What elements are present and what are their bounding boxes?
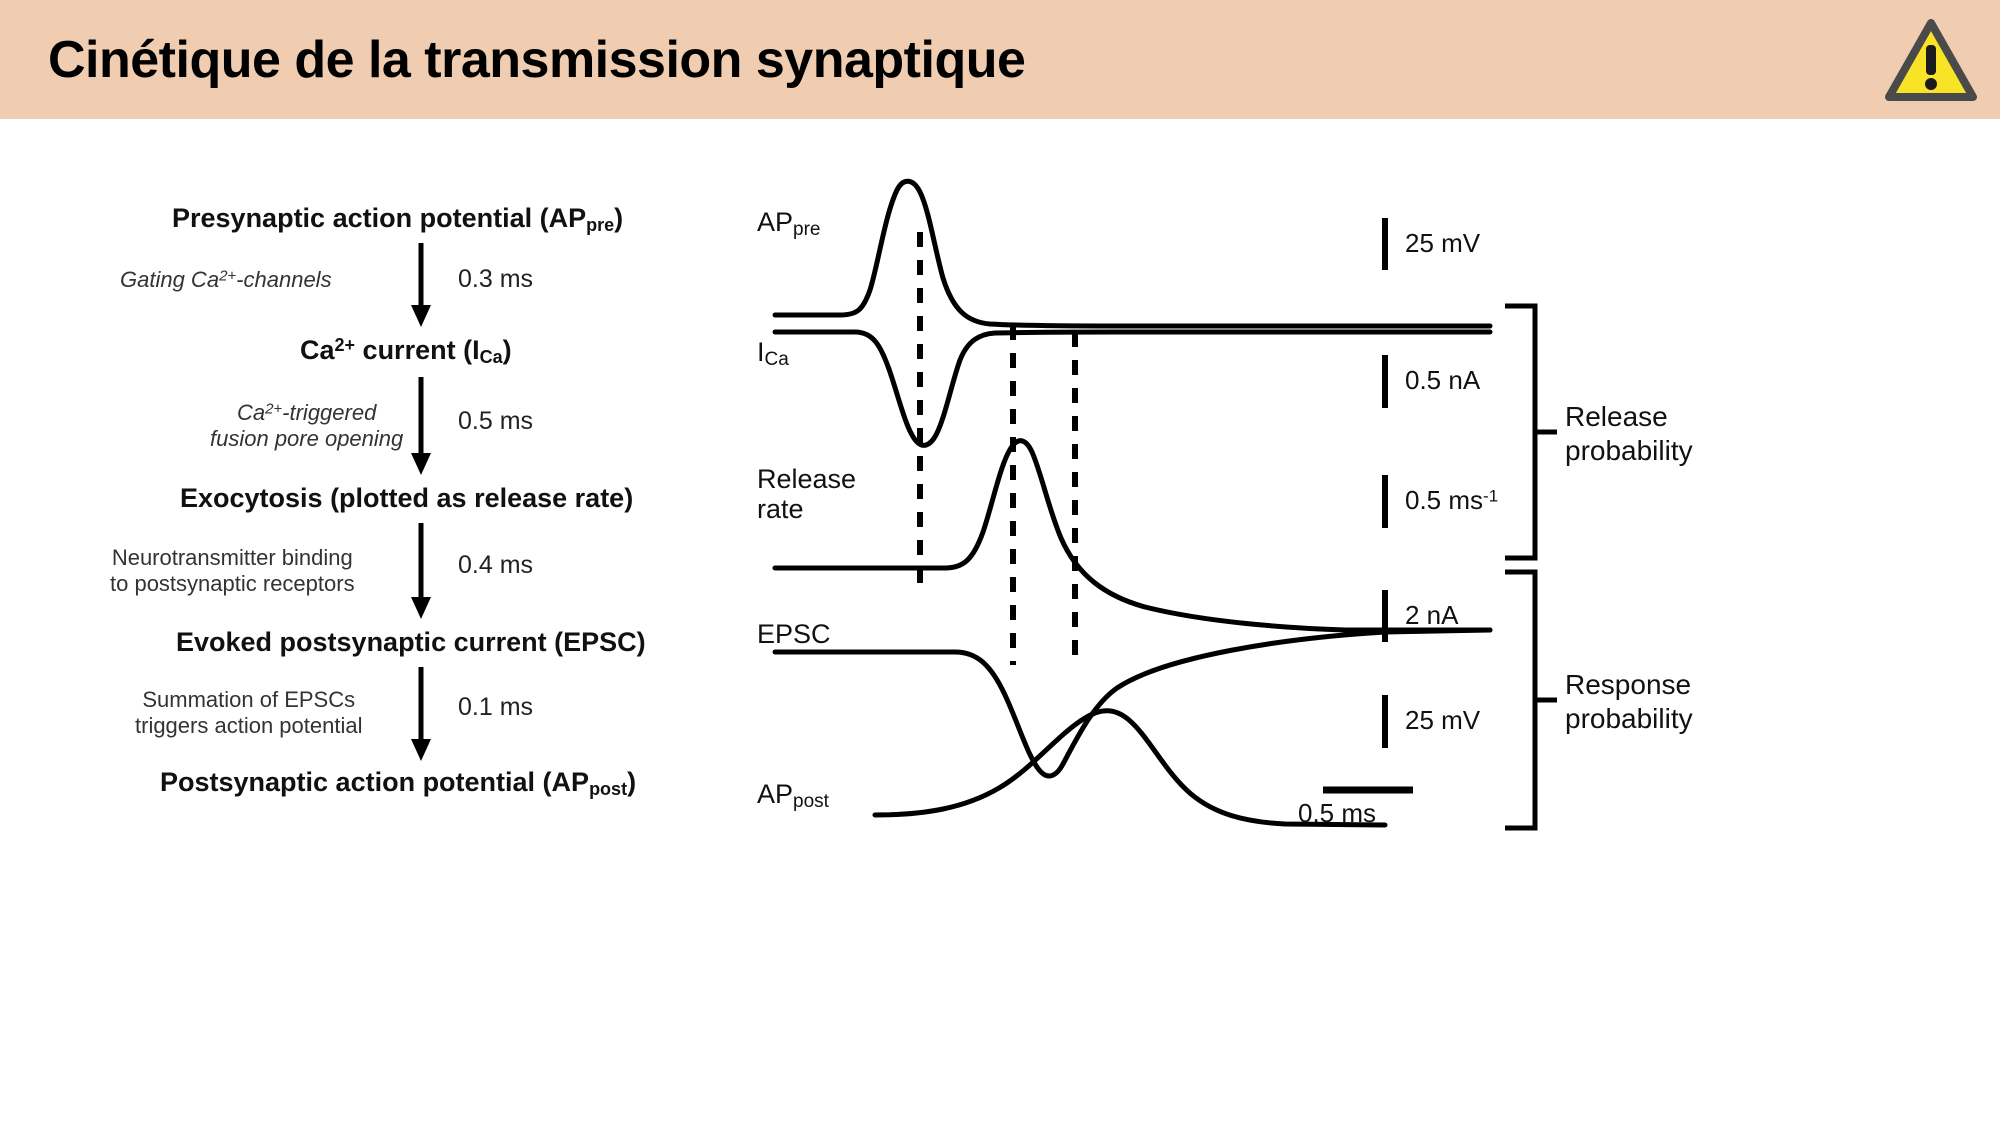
flow-condition-4: Summation of EPSCs triggers action poten… <box>135 687 362 739</box>
flow-arrow-3 <box>410 523 432 621</box>
flow-condition-3-line2: to postsynaptic receptors <box>110 571 355 597</box>
trace-ica <box>775 332 1115 445</box>
flow-condition-2-text: Ca <box>237 400 265 425</box>
flow-arrow-4 <box>410 667 432 763</box>
trace-label-epsc: EPSC <box>757 620 831 650</box>
flow-condition-1-text2: -channels <box>236 267 331 292</box>
flow-node-text: Presynaptic action potential (AP <box>172 203 586 233</box>
transmission-flowchart: Presynaptic action potential (APpre) Gat… <box>110 195 750 835</box>
trace-svg <box>745 160 1990 860</box>
flow-condition-4-line1: Summation of EPSCs <box>135 687 362 713</box>
flow-duration-4: 0.1 ms <box>458 693 533 722</box>
flow-node2-sub: Ca <box>480 347 503 367</box>
flow-node-ca-current: Ca2+ current (ICa) <box>300 335 512 368</box>
flow-node5-tail: ) <box>627 767 636 797</box>
bracket-label-release-line1: Release <box>1565 400 1693 434</box>
trace-label-appre-text: AP <box>757 207 793 237</box>
trace-appre <box>775 181 1115 326</box>
flow-arrow-1 <box>410 243 432 329</box>
flow-condition-1: Gating Ca2+-channels <box>120 267 332 293</box>
flow-node2-mid: current (I <box>355 335 480 365</box>
bracket-label-release-probability: Release probability <box>1565 400 1693 467</box>
flow-node5-sub: post <box>589 779 627 799</box>
flow-condition-2-line1: Ca2+-triggered <box>210 400 403 426</box>
scalebar-label-05na: 0.5 nA <box>1405 365 1480 396</box>
flow-node-presynaptic-ap: Presynaptic action potential (APpre) <box>172 203 623 236</box>
slide-page: Cinétique de la transmission synaptique … <box>0 0 2000 1125</box>
scalebar-label-2na: 2 nA <box>1405 600 1459 631</box>
trace-panel: APpre ICa Release rate EPSC APpost 25 mV… <box>745 160 1990 860</box>
trace-label-ica-sub: Ca <box>765 349 789 370</box>
trace-label-release-rate: Release rate <box>757 465 856 524</box>
scalebar-label-05ms-text: 0.5 ms <box>1405 485 1483 515</box>
bracket-label-release-line2: probability <box>1565 434 1693 468</box>
flow-condition-3-line1: Neurotransmitter binding <box>110 545 355 571</box>
flow-condition-2-sup: 2+ <box>265 401 282 418</box>
flow-duration-1: 0.3 ms <box>458 265 533 294</box>
flow-node-postsynaptic-ap: Postsynaptic action potential (APpost) <box>160 767 636 800</box>
flow-condition-3: Neurotransmitter binding to postsynaptic… <box>110 545 355 597</box>
scalebar-label-25mv-bottom: 25 mV <box>1405 705 1480 736</box>
slide-header: Cinétique de la transmission synaptique <box>0 0 2000 119</box>
bracket-response-probability <box>1505 572 1557 828</box>
bracket-label-response-line1: Response <box>1565 668 1693 702</box>
trace-label-appost-sub: post <box>793 791 829 812</box>
trace-label-appost: APpost <box>757 780 829 813</box>
trace-label-release-line2: rate <box>757 495 856 525</box>
flow-duration-2: 0.5 ms <box>458 407 533 436</box>
flow-node-sub: pre <box>586 215 614 235</box>
trace-label-appost-text: AP <box>757 779 793 809</box>
flow-arrow-2 <box>410 377 432 477</box>
flow-node2-sup: 2+ <box>335 335 356 355</box>
flow-condition-1-sup: 2+ <box>219 268 236 285</box>
warning-triangle-icon <box>1885 18 1977 102</box>
flow-condition-4-line2: triggers action potential <box>135 713 362 739</box>
flow-condition-2: Ca2+-triggered fusion pore opening <box>210 400 403 452</box>
trace-label-release-line1: Release <box>757 465 856 495</box>
flow-node2-text: Ca <box>300 335 335 365</box>
scalebar-label-25mv-top: 25 mV <box>1405 228 1480 259</box>
flow-condition-2-text2: -triggered <box>282 400 376 425</box>
flow-condition-1-text: Gating Ca <box>120 267 219 292</box>
flow-node-epsc: Evoked postsynaptic current (EPSC) <box>176 627 646 658</box>
trace-label-ica-text: I <box>757 337 765 367</box>
bracket-label-response-line2: probability <box>1565 702 1693 736</box>
bracket-label-response-probability: Response probability <box>1565 668 1693 735</box>
trace-label-ica: ICa <box>757 338 789 371</box>
flow-node-tail: ) <box>614 203 623 233</box>
page-title: Cinétique de la transmission synaptique <box>48 30 1025 90</box>
trace-label-appre-sub: pre <box>793 219 820 240</box>
scalebar-label-05ms-sup: -1 <box>1483 486 1498 505</box>
scalebar-label-05ms: 0.5 ms-1 <box>1405 485 1498 516</box>
flow-node-exocytosis: Exocytosis (plotted as release rate) <box>180 483 633 514</box>
flow-duration-3: 0.4 ms <box>458 551 533 580</box>
flow-node5-text: Postsynaptic action potential (AP <box>160 767 589 797</box>
scalebar-label-time: 0.5 ms <box>1298 798 1376 829</box>
flow-condition-2-line2: fusion pore opening <box>210 426 403 452</box>
bracket-release-probability <box>1505 306 1557 558</box>
trace-label-appre: APpre <box>757 208 821 241</box>
flow-node2-tail: ) <box>503 335 512 365</box>
